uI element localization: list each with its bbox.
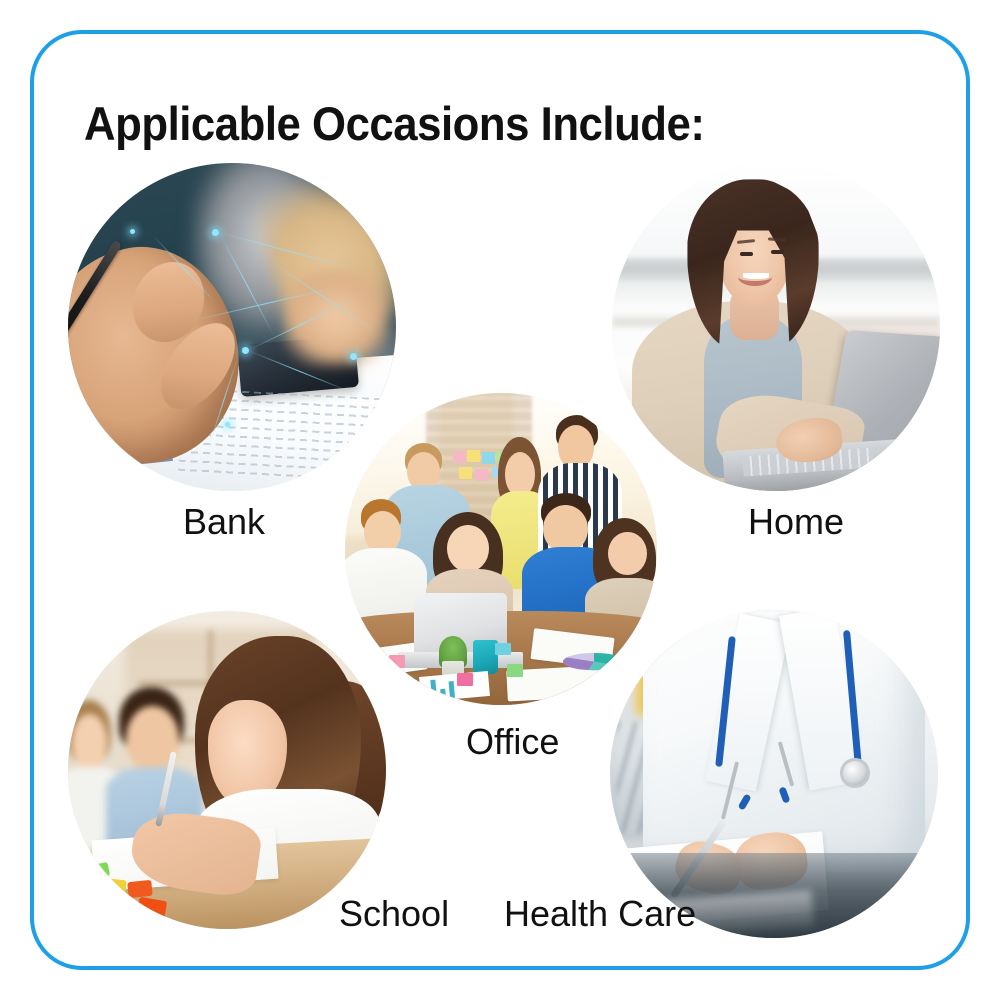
page-title: Applicable Occasions Include: (84, 96, 704, 151)
occasion-label-office: Office (466, 721, 559, 763)
bank-network-node (212, 229, 219, 236)
home-eye-right (771, 250, 784, 254)
occasion-image-school (68, 611, 386, 929)
school-foam-letter (128, 880, 154, 898)
healthcare-scene (610, 610, 938, 938)
bank-network-node (130, 229, 135, 234)
office-desk-sticky-note (389, 655, 405, 668)
occasion-image-home (612, 163, 940, 491)
office-sticky-note (475, 469, 488, 481)
school-scene (68, 611, 386, 929)
healthcare-stethoscope-chestpiece (840, 758, 870, 788)
office-person-head (543, 505, 588, 553)
occasion-label-school: School (339, 893, 449, 935)
office-desk-sticky-note (495, 643, 511, 655)
occasion-label-bank: Bank (183, 501, 265, 543)
office-person-head (447, 525, 489, 572)
school-child-head (72, 714, 107, 770)
office-person-head (505, 452, 535, 497)
home-eye-left (740, 252, 753, 256)
office-person-head (608, 532, 647, 576)
bank-network-node (242, 347, 249, 354)
home-smile (738, 268, 772, 286)
infographic-canvas: Applicable Occasions Include: (0, 0, 1000, 1000)
occasion-label-healthcare: Health Care (504, 893, 696, 935)
home-scene (612, 163, 940, 491)
occasion-label-home: Home (748, 501, 844, 543)
occasion-image-healthcare (610, 610, 938, 938)
bank-second-hand (284, 268, 389, 366)
school-foam-letter (99, 878, 126, 896)
office-desk-sticky-note (507, 664, 523, 677)
office-desk-sticky-note (457, 673, 473, 686)
